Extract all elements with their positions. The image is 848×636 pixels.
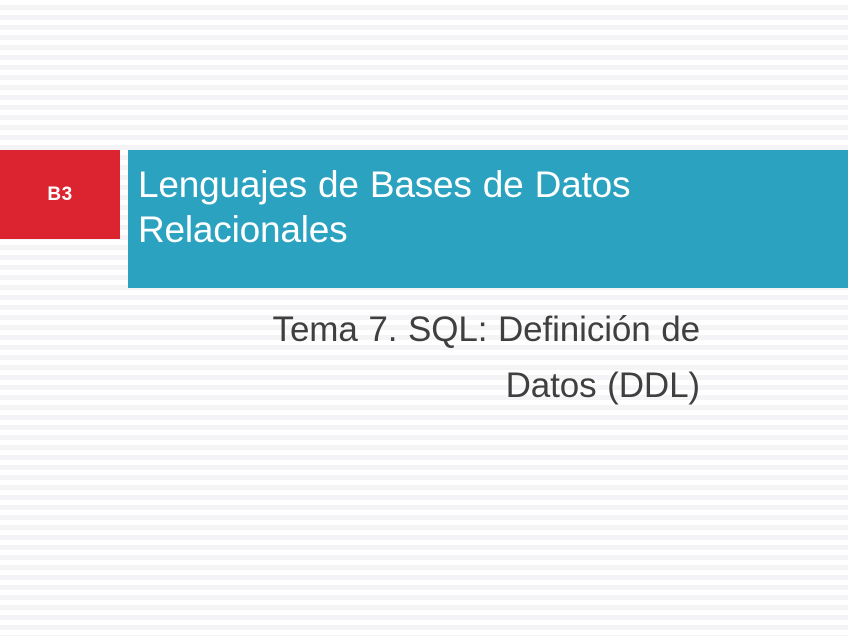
section-badge: B3 [0, 150, 120, 239]
slide-subtitle-line-1: Tema 7. SQL: Definición de [135, 302, 700, 358]
slide-subtitle: Tema 7. SQL: Definición de Datos (DDL) [135, 302, 700, 414]
slide-title-line-2: Relacionales [138, 207, 832, 252]
slide-canvas: B3 Lenguajes de Bases de Datos Relaciona… [0, 0, 848, 636]
section-badge-label: B3 [47, 185, 72, 204]
title-banner: Lenguajes de Bases de Datos Relacionales [128, 150, 848, 288]
slide-title-line-1: Lenguajes de Bases de Datos [138, 162, 832, 207]
slide-subtitle-line-2: Datos (DDL) [135, 358, 700, 414]
